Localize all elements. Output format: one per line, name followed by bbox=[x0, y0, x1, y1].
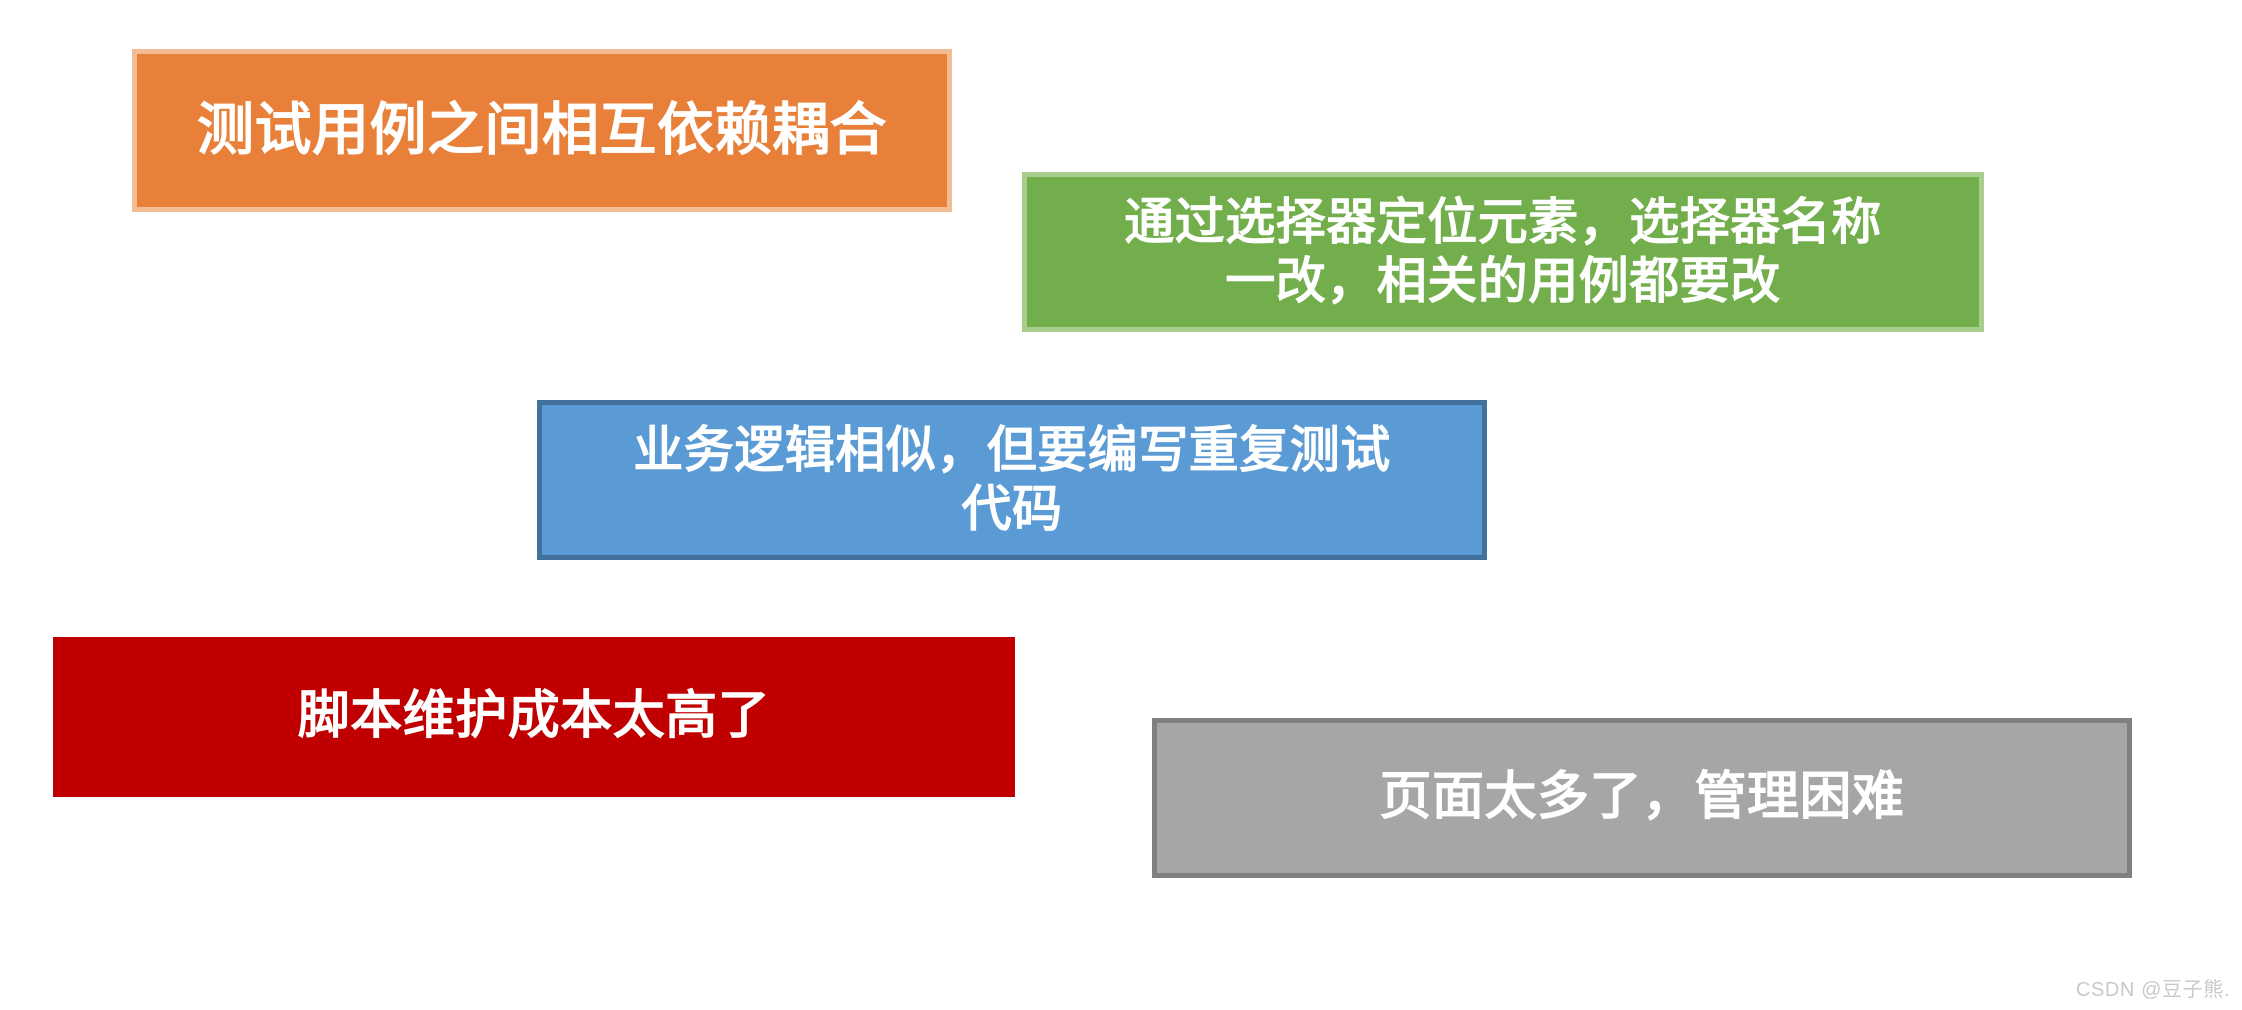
csdn-watermark: CSDN @豆子熊. bbox=[2076, 973, 2230, 1002]
callout-text: 业务逻辑相似，但要编写重复测试 代码 bbox=[633, 421, 1391, 539]
callout-text: 通过选择器定位元素，选择器名称 一改，相关的用例都要改 bbox=[1124, 193, 1882, 311]
callout-script-maintenance-cost: 脚本维护成本太高了 bbox=[53, 637, 1015, 797]
callout-text: 测试用例之间相互依赖耦合 bbox=[197, 97, 887, 164]
slide-canvas: 测试用例之间相互依赖耦合 通过选择器定位元素，选择器名称 一改，相关的用例都要改… bbox=[0, 0, 2242, 1010]
callout-selector-locator-change: 通过选择器定位元素，选择器名称 一改，相关的用例都要改 bbox=[1022, 172, 1984, 332]
callout-duplicate-test-code: 业务逻辑相似，但要编写重复测试 代码 bbox=[537, 400, 1487, 560]
callout-text: 脚本维护成本太高了 bbox=[298, 686, 771, 747]
callout-too-many-pages: 页面太多了，管理困难 bbox=[1152, 718, 2132, 878]
callout-test-case-coupling: 测试用例之间相互依赖耦合 bbox=[132, 49, 952, 212]
callout-text: 页面太多了，管理困难 bbox=[1379, 767, 1904, 828]
